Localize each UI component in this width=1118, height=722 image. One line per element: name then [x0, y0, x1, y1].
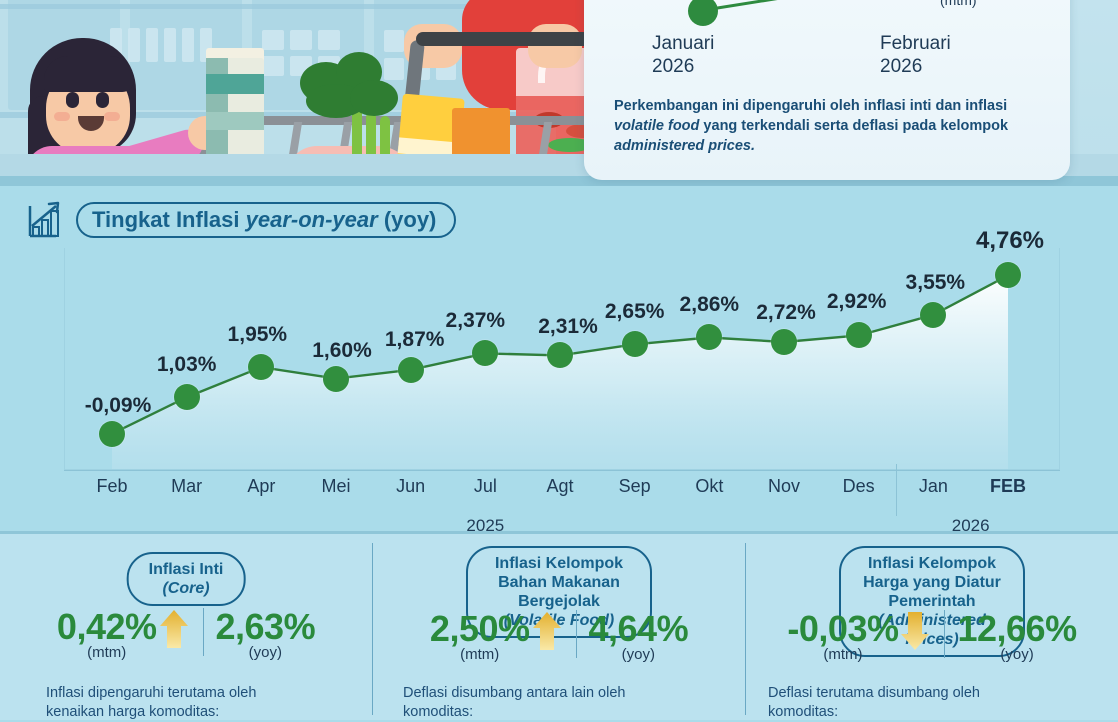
chart-point-feb — [995, 262, 1021, 288]
panel-core-value-divider — [203, 608, 204, 656]
x-label-feb: Feb — [96, 476, 127, 497]
chart-title-suffix: (yoy) — [378, 207, 437, 232]
chart-point-apr — [248, 354, 274, 380]
chart-x-labels: FebMarAprMeiJunJulAgtSepOktNovDesJanFEB — [64, 476, 1060, 506]
panel-core-footer: Inflasi dipengaruhi terutama oleh kenaik… — [46, 684, 399, 722]
mtm-month-januari-year: 2026 — [652, 56, 694, 77]
chart-title-italic: year-on-year — [246, 207, 378, 232]
panel-core-title-main: Inflasi Inti — [149, 560, 224, 579]
x-label-apr: Apr — [247, 476, 275, 497]
mtm-unit-label: (mtm) — [940, 0, 977, 8]
chart-point-jun — [398, 357, 424, 383]
panel-volatile-mtm-unit: (mtm) — [460, 646, 499, 663]
x-label-mei: Mei — [321, 476, 350, 497]
chart-label-jul: 2,37% — [446, 309, 506, 333]
chart-point-feb — [99, 421, 125, 447]
chart-label-des: 2,92% — [827, 290, 887, 314]
x-label-mar: Mar — [171, 476, 202, 497]
shelf-product — [182, 28, 194, 62]
panel-volatile-footer-line1: Deflasi disumbang antara lain oleh — [403, 685, 625, 701]
chart-label-feb: -0,09% — [85, 394, 152, 418]
panel-volatile-footer: Deflasi disumbang antara lain oleh komod… — [403, 684, 756, 722]
shelf-product — [384, 58, 404, 80]
chart-point-mar — [174, 384, 200, 410]
chart-label-apr: 1,95% — [228, 323, 288, 347]
panel-core-mtm-unit: (mtm) — [87, 644, 126, 661]
panel-administered-value-divider — [944, 610, 945, 658]
panel-core-footer-line1: Inflasi dipengaruhi terutama oleh — [46, 685, 256, 701]
shelf-product — [128, 28, 140, 62]
child-fringe — [44, 56, 134, 92]
child-cheek — [104, 112, 120, 121]
chart-label-sep: 2,65% — [605, 300, 665, 324]
panel-core-yoy: 2,63% (yoy) — [216, 608, 316, 661]
chart-label-jun: 1,87% — [385, 328, 445, 352]
chart-label-mar: 1,03% — [157, 353, 217, 377]
year-label-2025: 2025 — [466, 516, 504, 536]
shopper-hand — [528, 24, 582, 68]
x-label-okt: Okt — [695, 476, 723, 497]
x-label-sep: Sep — [619, 476, 651, 497]
chart-label-jan: 3,55% — [906, 271, 966, 295]
panel-volatile-food: Inflasi Kelompok Bahan Makanan Bergejola… — [373, 534, 745, 720]
panel-administered-mtm: -0,03% (mtm) — [787, 610, 898, 663]
chart-point-mei — [323, 366, 349, 392]
panel-core-title: Inflasi Inti (Core) — [149, 560, 224, 598]
mtm-month-januari: Januari 2026 — [652, 32, 714, 78]
chart-point-jul — [472, 340, 498, 366]
chart-point-agt — [547, 342, 573, 368]
panel-administered-footer-line2: komoditas: — [768, 704, 838, 720]
chart-label-mei: 1,60% — [312, 339, 372, 363]
panel-core-inflation: Inflasi Inti (Core) 0,42% (mtm) — [0, 534, 372, 720]
mtm-month-februari-name: Februari — [880, 33, 951, 54]
panel-core-title-pill: Inflasi Inti (Core) — [127, 552, 246, 606]
shelf-product — [290, 30, 312, 50]
mtm-month-februari-year: 2026 — [880, 56, 922, 77]
panel-volatile-value-divider — [576, 610, 577, 658]
milk-carton-band — [206, 74, 264, 94]
panel-volatile-footer-line2: komoditas: — [403, 704, 473, 720]
chart-point-sep — [622, 331, 648, 357]
panel-volatile-values: 2,50% (mtm) 4,64% (yoy) — [373, 610, 745, 663]
panel-core-values: 0,42% (mtm) 2,63% (yoy) — [0, 608, 372, 661]
child-cheek — [54, 112, 70, 121]
shelf-product — [318, 30, 340, 50]
panel-core-title-italic: (Core) — [162, 580, 209, 597]
year-label-2026: 2026 — [952, 516, 990, 536]
panel-administered-mtm-unit: (mtm) — [823, 646, 862, 663]
panel-core-yoy-value: 2,63% — [216, 608, 316, 646]
mtm-summary-card: (mtm) Januari 2026 Februari 2026 Perkemb… — [584, 0, 1070, 180]
chart-point-des — [846, 322, 872, 348]
panel-administered-footer-line1: Deflasi terutama disumbang oleh — [768, 685, 980, 701]
panel-administered-footer: Deflasi terutama disumbang oleh komodita… — [768, 684, 1118, 722]
panel-administered-yoy-value: 12,66% — [957, 610, 1076, 648]
card-paragraph-italic1: volatile food — [614, 118, 699, 134]
chart-label-feb: 4,76% — [976, 227, 1044, 255]
chart-label-agt: 2,31% — [538, 315, 598, 339]
arrow-down-icon — [900, 610, 930, 652]
shelf-product — [384, 30, 404, 52]
yoy-chart-section: Tingkat Inflasi year-on-year (yoy) -0,09… — [0, 186, 1118, 531]
mtm-month-januari-name: Januari — [652, 33, 714, 54]
milk-carton-band — [206, 112, 264, 130]
child-eye — [96, 92, 109, 108]
panel-core-footer-line2: kenaikan harga komoditas: — [46, 704, 219, 720]
shelf-product — [262, 30, 284, 50]
arrow-up-icon — [532, 610, 562, 652]
child-eye — [66, 92, 79, 108]
inflation-breakdown-section: Inflasi Inti (Core) 0,42% (mtm) — [0, 531, 1118, 720]
panel-administered-yoy: 12,66% (yoy) — [957, 610, 1076, 663]
x-label-jun: Jun — [396, 476, 425, 497]
x-label-jul: Jul — [474, 476, 497, 497]
yoy-line-chart: -0,09%1,03%1,95%1,60%1,87%2,37%2,31%2,65… — [64, 248, 1060, 470]
chart-title-prefix: Tingkat Inflasi — [92, 207, 246, 232]
shelf-product — [146, 28, 158, 62]
panel-volatile-title-line1: Inflasi Kelompok Bahan Makanan — [488, 554, 630, 592]
card-paragraph: Perkembangan ini dipengaruhi oleh inflas… — [614, 96, 1046, 156]
grocery-celery-leaf — [350, 80, 398, 116]
x-label-feb: FEB — [990, 476, 1026, 497]
chart-point-okt — [696, 324, 722, 350]
chart-label-okt: 2,86% — [680, 293, 740, 317]
panel-core-yoy-unit: (yoy) — [249, 644, 282, 661]
shelf-product — [262, 56, 284, 76]
chart-point-jan — [920, 302, 946, 328]
bar-chart-growth-icon — [26, 200, 78, 240]
x-label-des: Des — [843, 476, 875, 497]
x-label-agt: Agt — [546, 476, 573, 497]
panel-volatile-yoy-value: 4,64% — [589, 610, 689, 648]
panel-volatile-mtm: 2,50% (mtm) — [430, 610, 530, 663]
mtm-trend-line — [708, 0, 936, 11]
x-label-jan: Jan — [919, 476, 948, 497]
panel-volatile-yoy-unit: (yoy) — [622, 646, 655, 663]
card-paragraph-line1: Perkembangan ini dipengaruhi oleh inflas… — [614, 98, 1007, 114]
x-label-nov: Nov — [768, 476, 800, 497]
chart-header: Tingkat Inflasi year-on-year (yoy) — [26, 200, 456, 240]
panel-volatile-mtm-value: 2,50% — [430, 610, 530, 648]
card-paragraph-italic2: administered prices. — [614, 138, 755, 154]
card-paragraph-line2: yang terkendali serta deflasi pada kelom… — [699, 118, 1008, 134]
mtm-point-januari — [688, 0, 718, 26]
chart-x-axis — [64, 470, 1060, 471]
panel-volatile-yoy: 4,64% (yoy) — [589, 610, 689, 663]
panel-administered-values: -0,03% (mtm) 12,66% (yoy) — [746, 610, 1118, 663]
panel-administered-title-line1: Inflasi Kelompok Harga yang Diatur — [861, 554, 1003, 592]
panel-core-mtm: 0,42% (mtm) — [57, 608, 157, 661]
chart-point-nov — [771, 329, 797, 355]
panel-administered-mtm-value: -0,03% — [787, 610, 898, 648]
chart-label-nov: 2,72% — [756, 301, 816, 325]
shelf-product — [164, 28, 176, 62]
arrow-up-icon — [159, 608, 189, 650]
panel-administered-yoy-unit: (yoy) — [1000, 646, 1033, 663]
mtm-month-februari: Februari 2026 — [880, 32, 951, 78]
panel-administered-prices: Inflasi Kelompok Harga yang Diatur Pemer… — [746, 534, 1118, 720]
chart-title-pill: Tingkat Inflasi year-on-year (yoy) — [76, 202, 456, 238]
panel-core-mtm-value: 0,42% — [57, 608, 157, 646]
chart-title-text: Tingkat Inflasi year-on-year (yoy) — [92, 207, 436, 233]
